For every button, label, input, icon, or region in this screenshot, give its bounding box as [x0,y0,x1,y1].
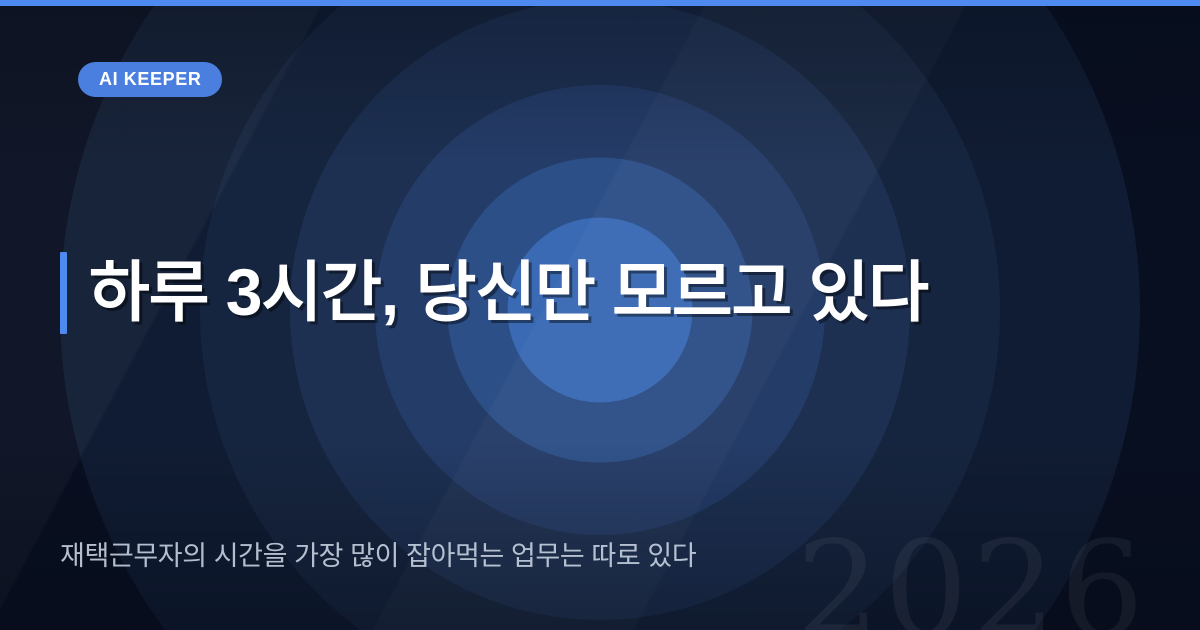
subtitle: 재택근무자의 시간을 가장 많이 잡아먹는 업무는 따로 있다 [60,534,696,573]
thumbnail-card: 2026 AI KEEPER 하루 3시간, 당신만 모르고 있다 재택근무자의… [0,0,1200,630]
brand-badge: AI KEEPER [78,62,222,97]
top-accent-bar [0,0,1200,6]
content-layer: AI KEEPER 하루 3시간, 당신만 모르고 있다 재택근무자의 시간을 … [0,0,1200,630]
headline-block: 하루 3시간, 당신만 모르고 있다 [60,252,928,334]
page-title: 하루 3시간, 당신만 모르고 있다 [89,252,928,334]
brand-badge-label: AI KEEPER [99,69,201,90]
headline-accent-bar [60,252,67,334]
